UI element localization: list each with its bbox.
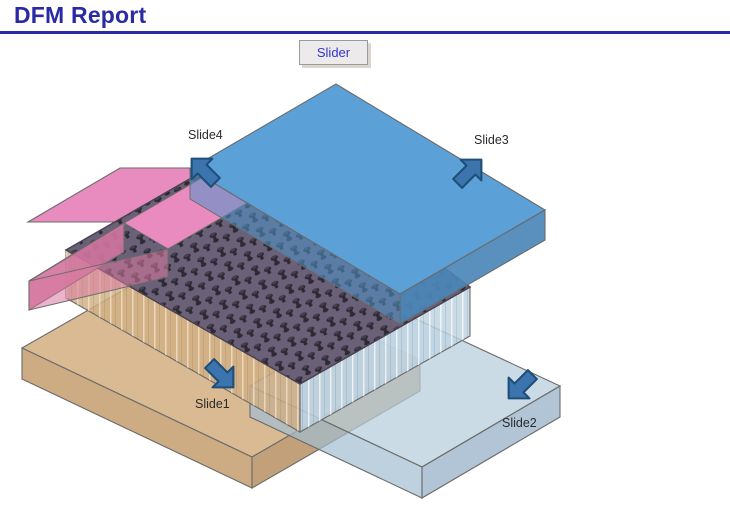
page-title: DFM Report [14, 2, 146, 29]
slide3-label: Slide3 [474, 133, 509, 147]
slider-button[interactable]: Slider [299, 40, 368, 65]
slide4-label: Slide4 [188, 128, 223, 142]
slide2-label: Slide2 [502, 416, 537, 430]
slide1-label: Slide1 [195, 397, 230, 411]
assembly-diagram-svg [0, 70, 730, 518]
assembly-diagram [0, 70, 730, 518]
header-divider [0, 31, 730, 34]
slider-button-label: Slider [317, 46, 350, 59]
